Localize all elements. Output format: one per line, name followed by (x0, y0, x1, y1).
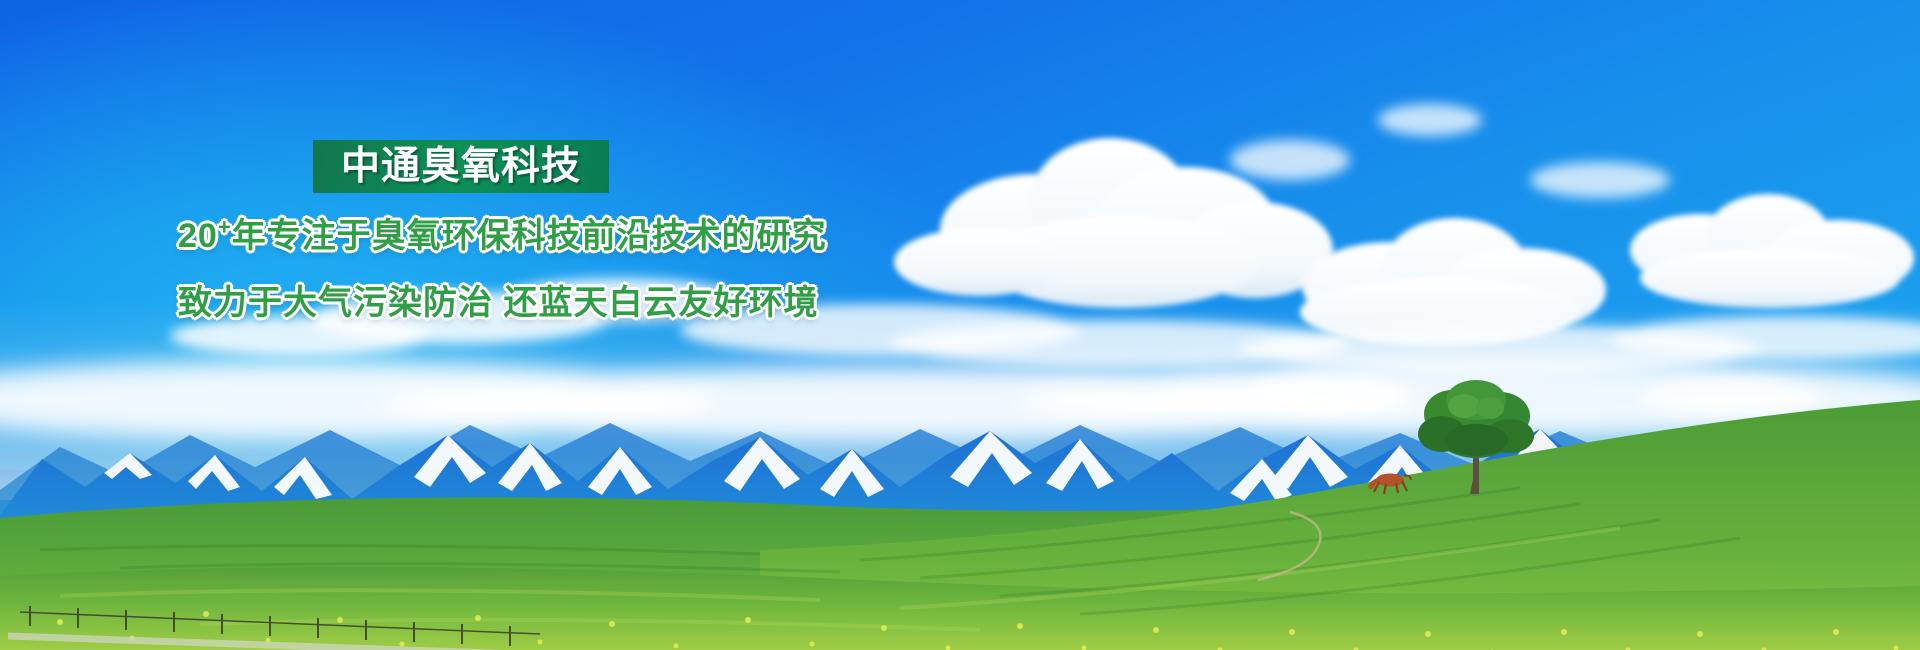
subtitle-2-text: 致力于大气污染防治 还蓝天白云友好环境 (178, 284, 818, 322)
subtitle-line-1: 20+年专注于臭氧环保科技前沿技术的研究 (178, 208, 827, 257)
cumulus-far-right (1630, 194, 1914, 308)
subtitle-line-2: 致力于大气污染防治 还蓝天白云友好环境 (178, 275, 818, 324)
grazing-horse (1368, 474, 1411, 495)
grassland (0, 400, 1920, 650)
subtitle-1-prefix: 20 (178, 217, 218, 255)
ridge-scene (1330, 370, 1630, 550)
company-title-plate: 中通臭氧科技 (313, 140, 609, 193)
lone-tree (1418, 380, 1534, 494)
hero-banner: 中通臭氧科技 20+年专注于臭氧环保科技前沿技术的研究 致力于大气污染防治 还蓝… (0, 0, 1920, 650)
subtitle-1-superscript: + (218, 215, 232, 240)
subtitle-1-text: 年专注于臭氧环保科技前沿技术的研究 (232, 217, 827, 255)
page-title: 中通臭氧科技 (341, 147, 581, 186)
